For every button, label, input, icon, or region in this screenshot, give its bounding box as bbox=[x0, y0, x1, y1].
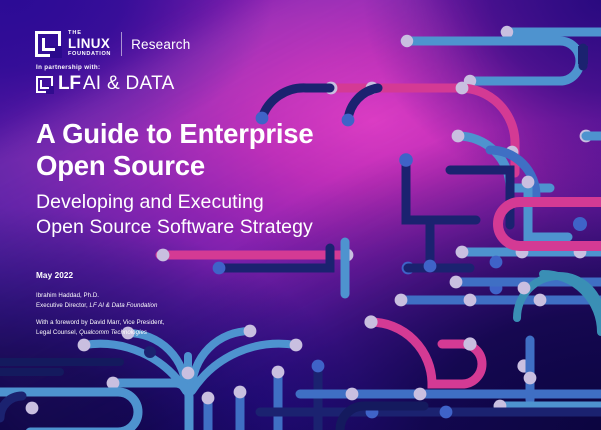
author-role: Executive Director, bbox=[36, 302, 90, 309]
lf-linux-text: LINUX bbox=[68, 37, 111, 50]
subtitle-line-2: Open Source Software Strategy bbox=[36, 216, 313, 238]
foreword-line-2: Legal Counsel, bbox=[36, 329, 79, 336]
lfai-lf-text: LF bbox=[58, 73, 81, 95]
page-subtitle: Developing and ExecutingOpen Source Soft… bbox=[36, 190, 366, 239]
partnership-label: In partnership with: bbox=[36, 64, 100, 71]
lfai-rest-text: AI & DATA bbox=[83, 73, 175, 95]
report-cover: .tb { fill:none; stroke:#4e93cf; stroke-… bbox=[0, 0, 601, 430]
lf-division-label: Research bbox=[131, 37, 190, 52]
linux-foundation-square-icon bbox=[35, 31, 61, 57]
foreword-organization: Qualcomm Technologies bbox=[79, 329, 147, 336]
foreword-line-1: With a foreword by David Marr, Vice Pres… bbox=[36, 319, 165, 326]
page-title: A Guide to EnterpriseOpen Source bbox=[36, 118, 356, 182]
lf-ai-data-square-icon bbox=[36, 76, 53, 93]
lf-ai-data-logo: LF AI & DATA bbox=[36, 73, 175, 95]
linux-foundation-logo: THE LINUX FOUNDATION Research bbox=[35, 30, 190, 58]
subtitle-line-1: Developing and Executing bbox=[36, 191, 264, 213]
cover-content: THE LINUX FOUNDATION Research In partner… bbox=[0, 0, 360, 430]
author-name: Ibrahim Haddad, Ph.D. bbox=[36, 292, 99, 299]
publication-date: May 2022 bbox=[36, 271, 73, 280]
logo-divider bbox=[121, 32, 122, 56]
title-line-1: A Guide to Enterprise bbox=[36, 118, 313, 149]
lf-foundation-text: FOUNDATION bbox=[68, 52, 111, 58]
author-block: Ibrahim Haddad, Ph.D. Executive Director… bbox=[36, 291, 157, 311]
linux-foundation-wordmark: THE LINUX FOUNDATION bbox=[68, 31, 111, 58]
foreword-block: With a foreword by David Marr, Vice Pres… bbox=[36, 318, 165, 338]
author-organization: LF AI & Data Foundation bbox=[90, 302, 158, 309]
title-line-2: Open Source bbox=[36, 150, 205, 181]
